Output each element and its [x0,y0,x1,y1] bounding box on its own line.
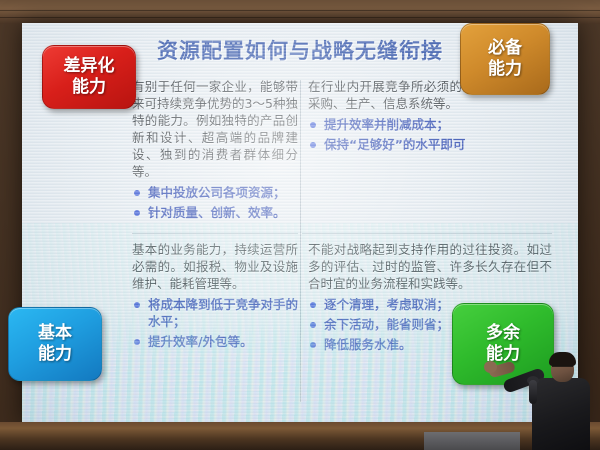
horizontal-divider-left [132,233,298,234]
presenter-glasses [552,365,573,372]
badge-line-2: 能力 [488,59,522,80]
bullet-item: 提升效率并削减成本； [308,116,552,133]
microphone [529,380,537,404]
wall-molding-line [0,10,600,11]
vertical-divider [300,80,301,402]
presenter-hand [484,361,497,373]
badge-differentiating-capability: 差异化 能力 [42,45,136,109]
quadrant-bullet-list: 集中投放公司各项资源； 针对质量、创新、效率。 [132,184,298,221]
quadrant-paragraph: 不能对战略起到支持作用的过往投资。如过多的评估、过时的监管、许多长久存在但不合时… [308,241,552,292]
badge-basic-capability: 基本 能力 [8,307,102,381]
badge-line-2: 能力 [38,344,72,365]
quadrant-top-left: 有别于任何一家企业，能够带来可持续竞争优势的3～5种独特的能力。例如独特的产品创… [132,78,298,221]
bullet-item: 提升效率/外包等。 [132,333,298,350]
quadrant-paragraph: 基本的业务能力，持续运营所必需的。如报税、物业及设施维护、能耗管理等。 [132,241,298,292]
presenter-hair [549,352,576,366]
bullet-item: 针对质量、创新、效率。 [132,204,298,221]
quadrant-bullet-list: 提升效率并削减成本； 保持“足够好”的水平即可 [308,116,552,153]
badge-line-1: 多余 [486,323,520,344]
quadrant-bullet-list: 将成本降到低于竞争对手的水平； 提升效率/外包等。 [132,296,298,350]
podium [424,432,520,450]
bullet-item: 将成本降到低于竞争对手的水平； [132,296,298,330]
badge-line-2: 能力 [72,77,106,98]
slide-title: 资源配置如何与战略无缝衔接 [157,35,443,65]
wall-molding-line [0,17,600,18]
badge-line-1: 差异化 [64,56,115,77]
bullet-item: 集中投放公司各项资源； [132,184,298,201]
badge-line-1: 必备 [488,38,522,59]
quadrant-bottom-left: 基本的业务能力，持续运营所必需的。如报税、物业及设施维护、能耗管理等。 将成本降… [132,241,298,350]
quadrant-paragraph: 有别于任何一家企业，能够带来可持续竞争优势的3～5种独特的能力。例如独特的产品创… [132,78,298,180]
badge-essential-capability: 必备 能力 [460,23,550,95]
bullet-item: 保持“足够好”的水平即可 [308,136,552,153]
horizontal-divider-right [302,233,552,234]
presenter-torso [532,378,590,450]
photo-scene: 资源配置如何与战略无缝衔接 有别于任何一家企业，能够带来可持续竞争优势的3～5种… [0,0,600,450]
badge-line-1: 基本 [38,323,72,344]
